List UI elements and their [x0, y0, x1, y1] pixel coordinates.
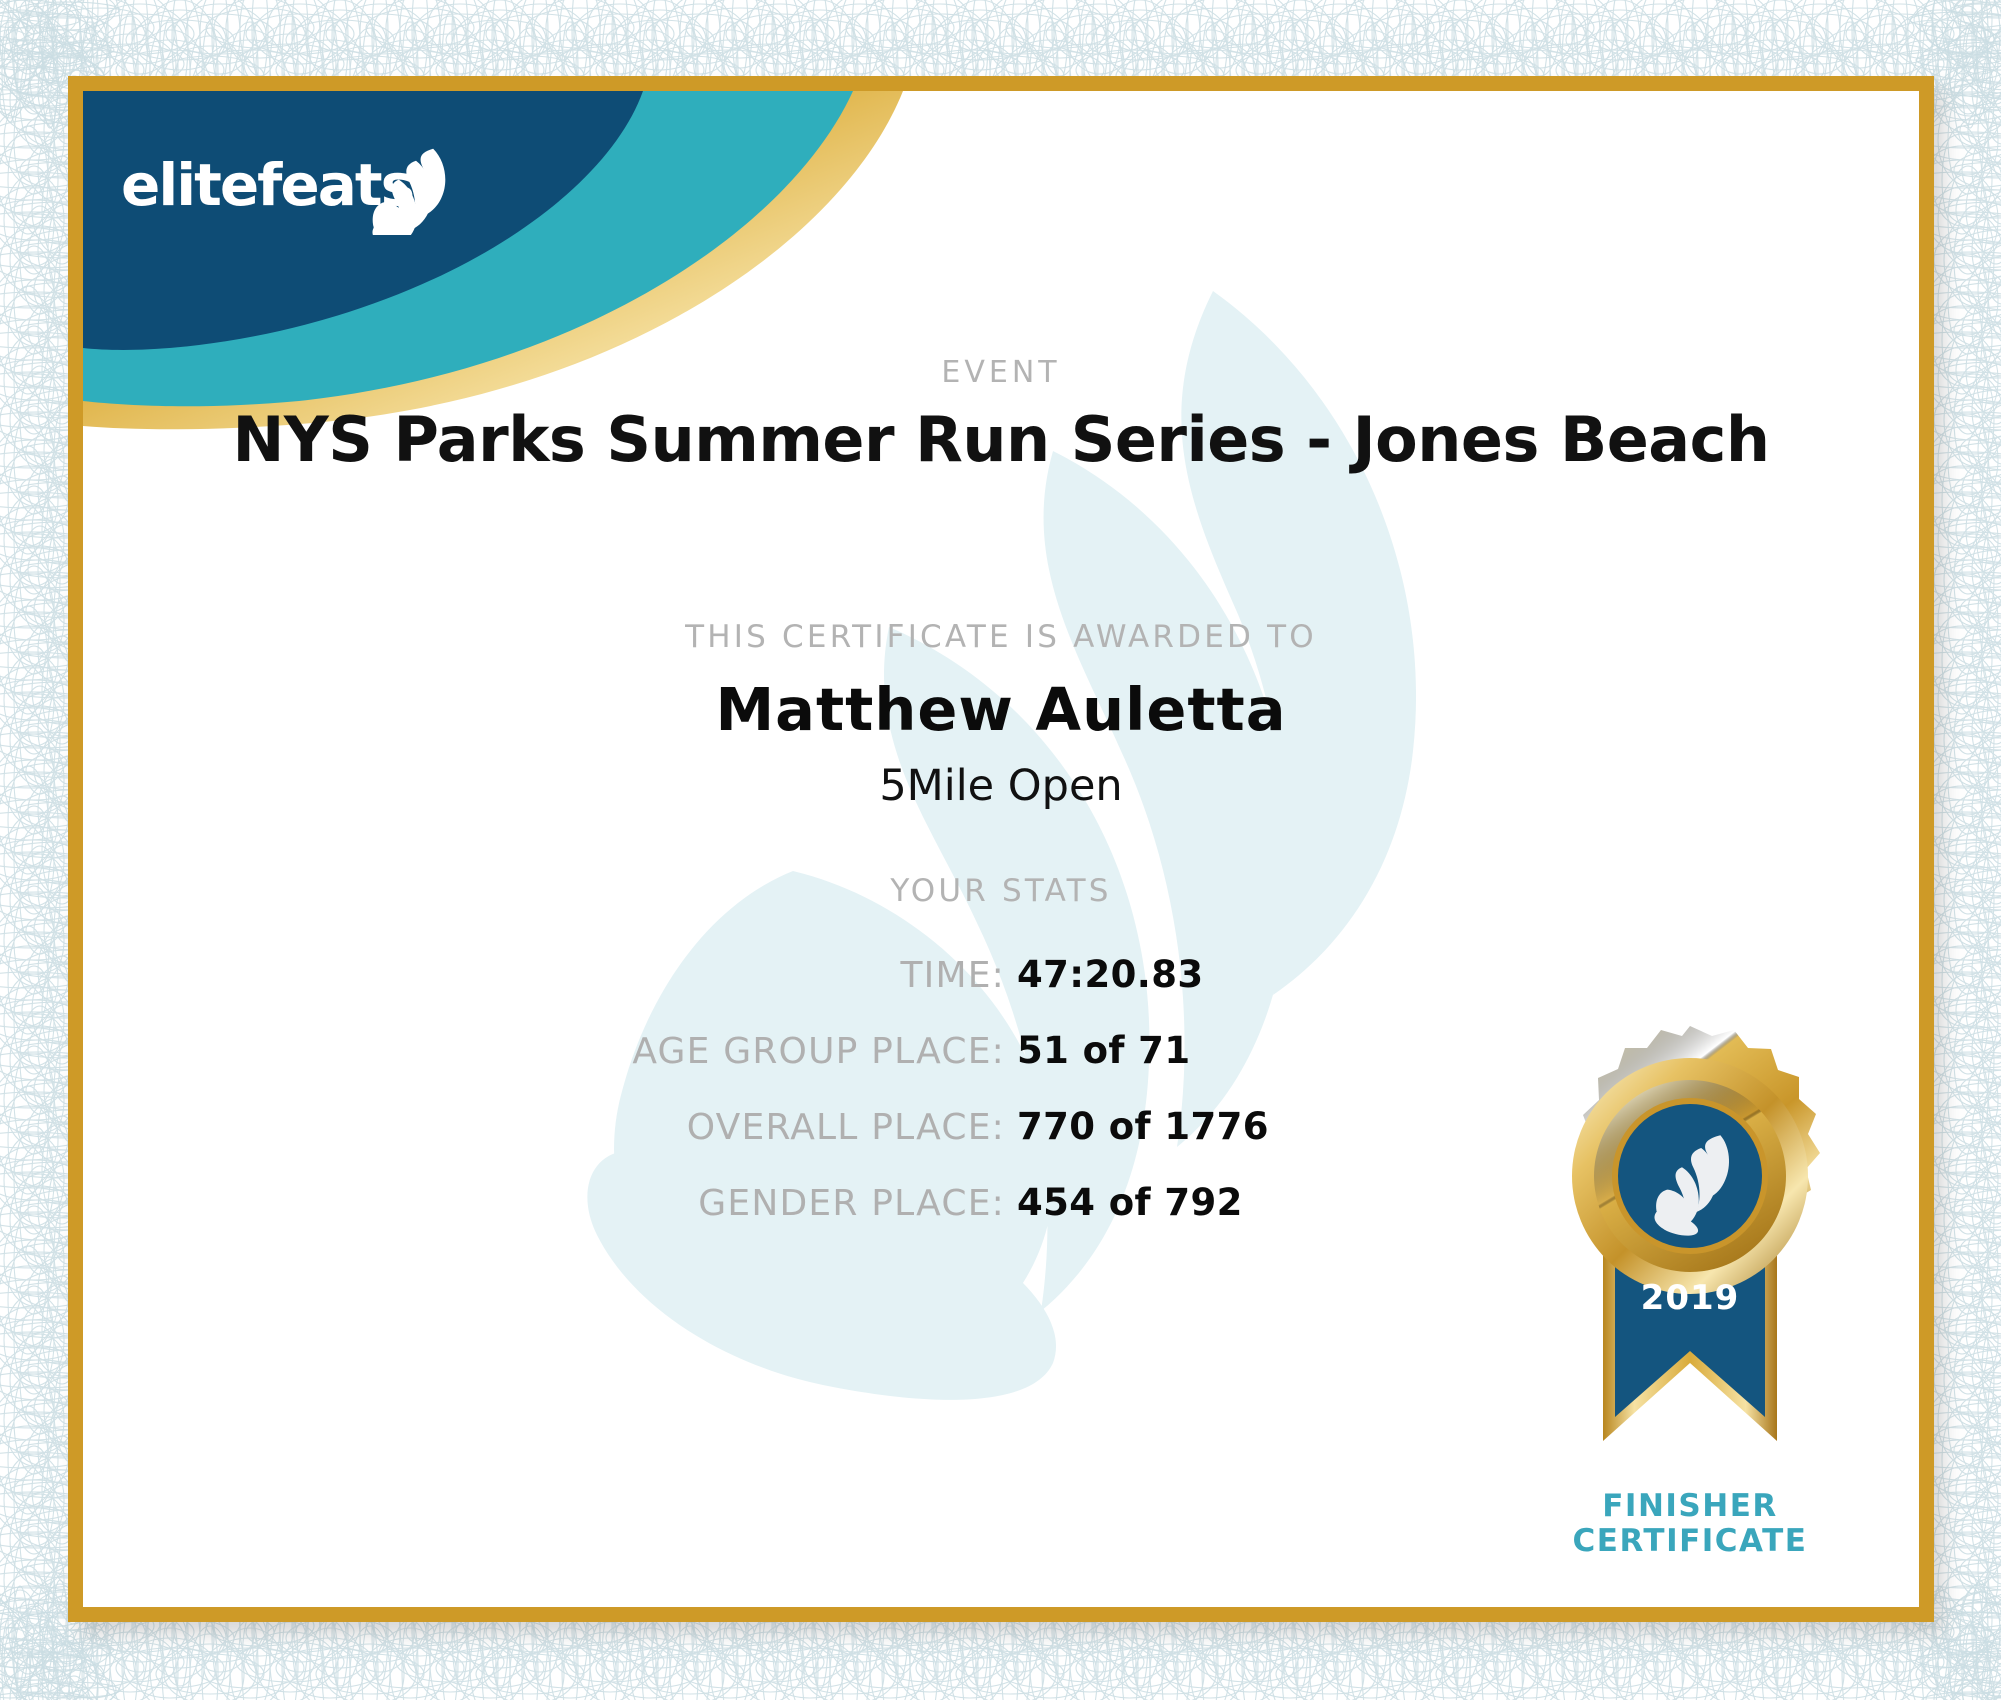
elitefeats-logo: elitefeats — [121, 143, 451, 235]
badge-caption: FINISHER CERTIFICATE — [1525, 1489, 1855, 1559]
your-stats-label: YOUR STATS — [83, 873, 1919, 909]
certificate-frame: elitefeats EVENT NYS Parks Summer Run Se… — [68, 76, 1934, 1622]
badge-caption-line1: FINISHER — [1525, 1489, 1855, 1524]
stat-row-time: TIME: 47:20.83 — [83, 953, 1919, 1017]
stat-label: TIME: — [83, 955, 1017, 996]
event-title: NYS Parks Summer Run Series - Jones Beac… — [83, 403, 1919, 476]
recipient-division: 5Mile Open — [83, 761, 1919, 811]
stat-value: 47:20.83 — [1017, 953, 1919, 996]
badge-caption-line2: CERTIFICATE — [1525, 1524, 1855, 1559]
badge-year: 2019 — [1641, 1278, 1740, 1318]
stat-label: OVERALL PLACE: — [83, 1107, 1017, 1148]
medal-icon — [1572, 1026, 1820, 1294]
stat-label: AGE GROUP PLACE: — [83, 1031, 1017, 1072]
event-kicker-label: EVENT — [83, 355, 1919, 390]
certificate-page: elitefeats EVENT NYS Parks Summer Run Se… — [0, 0, 2001, 1700]
svg-text:elitefeats: elitefeats — [121, 151, 413, 219]
awarded-to-label: THIS CERTIFICATE IS AWARDED TO — [83, 619, 1919, 655]
recipient-name: Matthew Auletta — [83, 675, 1919, 744]
finisher-medal-badge: 2019 — [1525, 1021, 1855, 1481]
stat-label: GENDER PLACE: — [83, 1183, 1017, 1224]
